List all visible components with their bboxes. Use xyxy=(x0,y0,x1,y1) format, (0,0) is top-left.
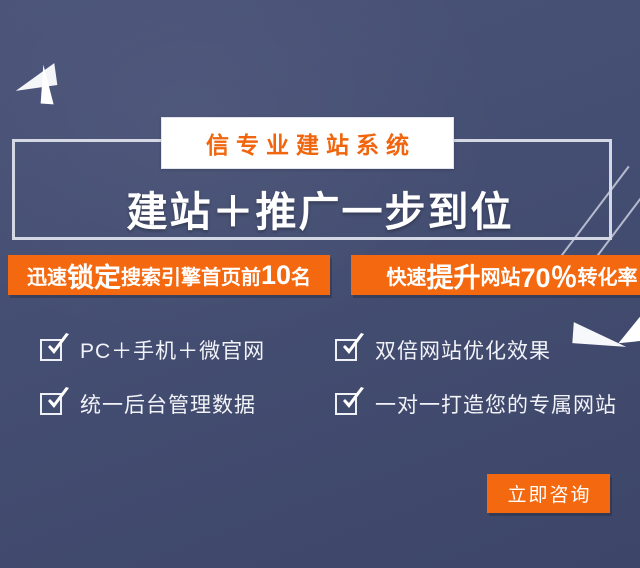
strip2-part-0: 快速 xyxy=(386,261,426,290)
check-icon xyxy=(335,393,357,415)
strip1-part-4: 名 xyxy=(291,261,311,290)
page-title: 建站＋推广一步到位 xyxy=(0,178,640,238)
strip2-part-2: 网站 xyxy=(480,261,520,290)
check-mark-icon xyxy=(339,333,365,359)
strip1-part-2: 搜索引擎首页前 xyxy=(121,261,261,290)
ranking-claim-strip: 迅速锁定搜索引擎首页前10名 xyxy=(8,255,330,295)
strip1-part-0: 迅速 xyxy=(27,261,67,290)
check-icon xyxy=(335,339,357,361)
check-icon xyxy=(40,393,62,415)
conversion-claim-strip: 快速提升网站70％转化率 xyxy=(351,255,640,295)
feature-label: 双倍网站优化效果 xyxy=(375,335,551,365)
promo-banner: 信专业建站系统 建站＋推广一步到位 迅速锁定搜索引擎首页前10名 快速提升网站7… xyxy=(0,0,640,568)
feature-label: 一对一打造您的专属网站 xyxy=(375,389,617,419)
feature-item: PC＋手机＋微官网 xyxy=(40,335,265,365)
strip2-part-1: 提升 xyxy=(426,256,480,295)
feature-label: 统一后台管理数据 xyxy=(80,389,256,419)
strip2-part-4: 转化率 xyxy=(578,261,638,290)
strip1-part-3: 10 xyxy=(261,260,291,291)
feature-item: 双倍网站优化效果 xyxy=(335,335,551,365)
consult-now-button[interactable]: 立即咨询 xyxy=(487,474,610,513)
paper-plane-icon xyxy=(573,316,640,352)
check-mark-icon xyxy=(44,333,70,359)
check-icon xyxy=(40,339,62,361)
feature-label: PC＋手机＋微官网 xyxy=(80,335,265,365)
strip1-part-1: 锁定 xyxy=(67,256,121,295)
feature-item: 一对一打造您的专属网站 xyxy=(335,389,617,419)
title-plaque: 信专业建站系统 xyxy=(161,117,454,169)
check-mark-icon xyxy=(44,387,70,413)
check-mark-icon xyxy=(339,387,365,413)
strip2-part-3: 70％ xyxy=(520,256,577,295)
title-plaque-label: 信专业建站系统 xyxy=(199,126,416,160)
feature-item: 统一后台管理数据 xyxy=(40,389,256,419)
paper-plane-icon xyxy=(14,62,72,108)
